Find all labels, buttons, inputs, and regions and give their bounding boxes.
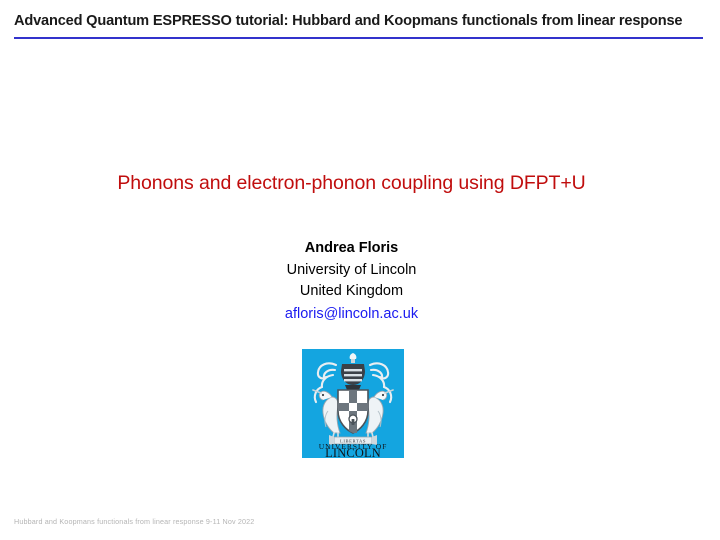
author-block: Andrea Floris University of Lincoln Unit… bbox=[0, 238, 703, 325]
author-email-row: afloris@lincoln.ac.uk bbox=[0, 303, 703, 326]
presentation-slide: Advanced Quantum ESPRESSO tutorial: Hubb… bbox=[0, 0, 720, 540]
logo-lincoln-text: LINCOLN bbox=[325, 446, 381, 458]
author-affiliation: University of Lincoln bbox=[0, 260, 703, 282]
slide-footer: Hubbard and Koopmans functionals from li… bbox=[14, 517, 514, 527]
lincoln-crest-icon: LIBERTAS . UNIVERSITY OF LINCOLN bbox=[302, 349, 404, 458]
header-divider-rule bbox=[14, 37, 703, 39]
university-of-lincoln-logo: LIBERTAS . UNIVERSITY OF LINCOLN bbox=[302, 349, 404, 458]
page-title: Phonons and electron-phonon coupling usi… bbox=[0, 170, 703, 196]
header-title: Advanced Quantum ESPRESSO tutorial: Hubb… bbox=[14, 11, 706, 31]
author-country: United Kingdom bbox=[0, 281, 703, 303]
slide-header: Advanced Quantum ESPRESSO tutorial: Hubb… bbox=[14, 11, 706, 45]
author-name: Andrea Floris bbox=[0, 238, 703, 260]
author-email-link[interactable]: afloris@lincoln.ac.uk bbox=[285, 304, 418, 326]
